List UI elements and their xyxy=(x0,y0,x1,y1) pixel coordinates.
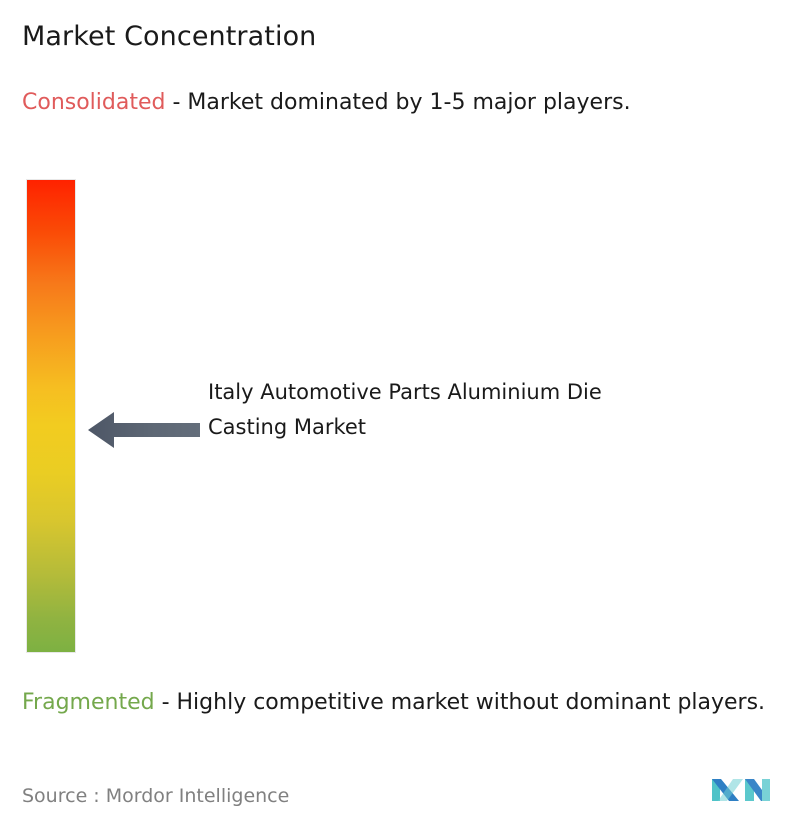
concentration-gradient-scale xyxy=(27,180,75,652)
fragmented-caption: Fragmented - Highly competitive market w… xyxy=(22,686,784,719)
market-pointer-arrow xyxy=(88,408,200,452)
consolidated-description: - Market dominated by 1-5 major players. xyxy=(165,90,630,115)
page-title: Market Concentration xyxy=(22,20,316,54)
mordor-intelligence-logo xyxy=(712,771,774,809)
arrow-left-icon xyxy=(88,408,200,452)
source-attribution: Source : Mordor Intelligence xyxy=(22,783,289,809)
market-concentration-infographic: Market Concentration Consolidated - Mark… xyxy=(0,0,796,834)
fragmented-keyword: Fragmented xyxy=(22,690,155,715)
consolidated-caption: Consolidated - Market dominated by 1-5 m… xyxy=(22,86,762,119)
brand-logo-icon xyxy=(712,771,774,809)
fragmented-description: - Highly competitive market without domi… xyxy=(155,690,765,715)
consolidated-keyword: Consolidated xyxy=(22,90,165,115)
market-pointer-label: Italy Automotive Parts Aluminium Die Cas… xyxy=(208,375,628,445)
